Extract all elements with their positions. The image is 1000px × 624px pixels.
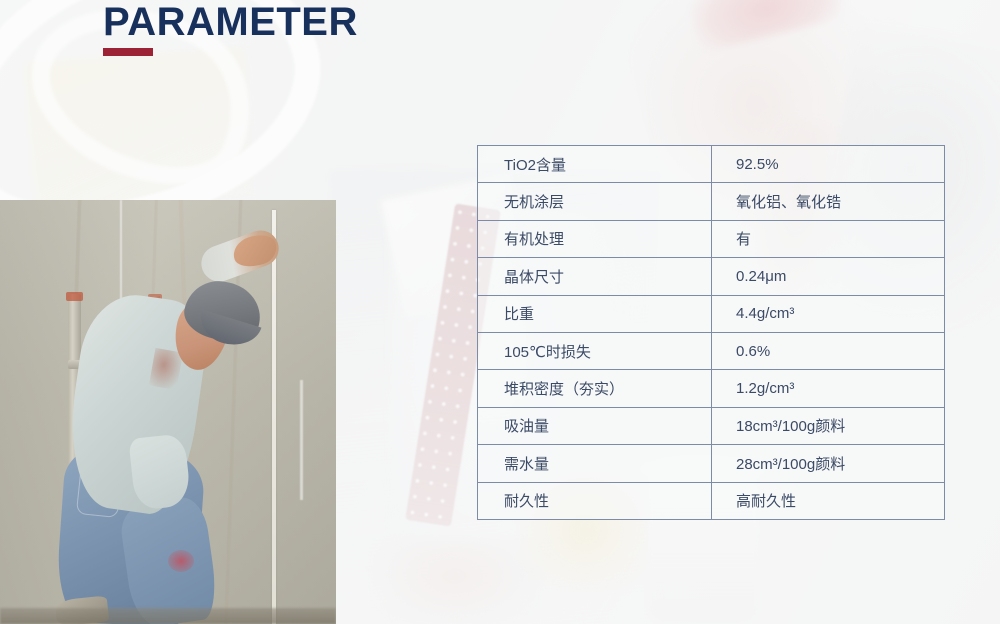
worker-photo: [0, 200, 336, 624]
row-label: TiO2含量: [478, 146, 712, 183]
table-row: 耐久性 高耐久性: [478, 482, 945, 519]
row-value: 0.24μm: [712, 258, 945, 295]
photo-wall-streak: [300, 380, 303, 500]
row-value: 4.4g/cm³: [712, 295, 945, 332]
row-value: 18cm³/100g颜料: [712, 407, 945, 444]
title-underline-accent: [103, 48, 153, 56]
table-row: TiO2含量 92.5%: [478, 146, 945, 183]
table-row: 晶体尺寸 0.24μm: [478, 258, 945, 295]
photo-knee-mark: [168, 550, 194, 572]
row-value: 28cm³/100g颜料: [712, 445, 945, 482]
table-row: 吸油量 18cm³/100g颜料: [478, 407, 945, 444]
row-label: 105℃时损失: [478, 332, 712, 369]
row-label: 耐久性: [478, 482, 712, 519]
row-label: 堆积密度（夯实）: [478, 370, 712, 407]
row-label: 需水量: [478, 445, 712, 482]
row-value: 高耐久性: [712, 482, 945, 519]
parameter-table-body: TiO2含量 92.5% 无机涂层 氧化铝、氧化锆 有机处理 有 晶体尺寸 0.…: [478, 146, 945, 520]
row-value: 氧化铝、氧化锆: [712, 183, 945, 220]
table-row: 有机处理 有: [478, 220, 945, 257]
page-title: PARAMETER: [103, 1, 358, 44]
row-value: 1.2g/cm³: [712, 370, 945, 407]
table-row: 105℃时损失 0.6%: [478, 332, 945, 369]
row-label: 晶体尺寸: [478, 258, 712, 295]
row-label: 有机处理: [478, 220, 712, 257]
row-value: 有: [712, 220, 945, 257]
photo-ladder-cap: [66, 292, 83, 301]
row-label: 吸油量: [478, 407, 712, 444]
parameter-page: PARAMETER TiO2含量 92.5%: [0, 0, 1000, 624]
row-value: 0.6%: [712, 332, 945, 369]
table-row: 无机涂层 氧化铝、氧化锆: [478, 183, 945, 220]
table-row: 比重 4.4g/cm³: [478, 295, 945, 332]
photo-measuring-tape: [272, 210, 276, 624]
row-value: 92.5%: [712, 146, 945, 183]
row-label: 无机涂层: [478, 183, 712, 220]
table-row: 堆积密度（夯实） 1.2g/cm³: [478, 370, 945, 407]
table-row: 需水量 28cm³/100g颜料: [478, 445, 945, 482]
parameter-table: TiO2含量 92.5% 无机涂层 氧化铝、氧化锆 有机处理 有 晶体尺寸 0.…: [477, 145, 945, 520]
photo-floor: [0, 608, 336, 624]
row-label: 比重: [478, 295, 712, 332]
